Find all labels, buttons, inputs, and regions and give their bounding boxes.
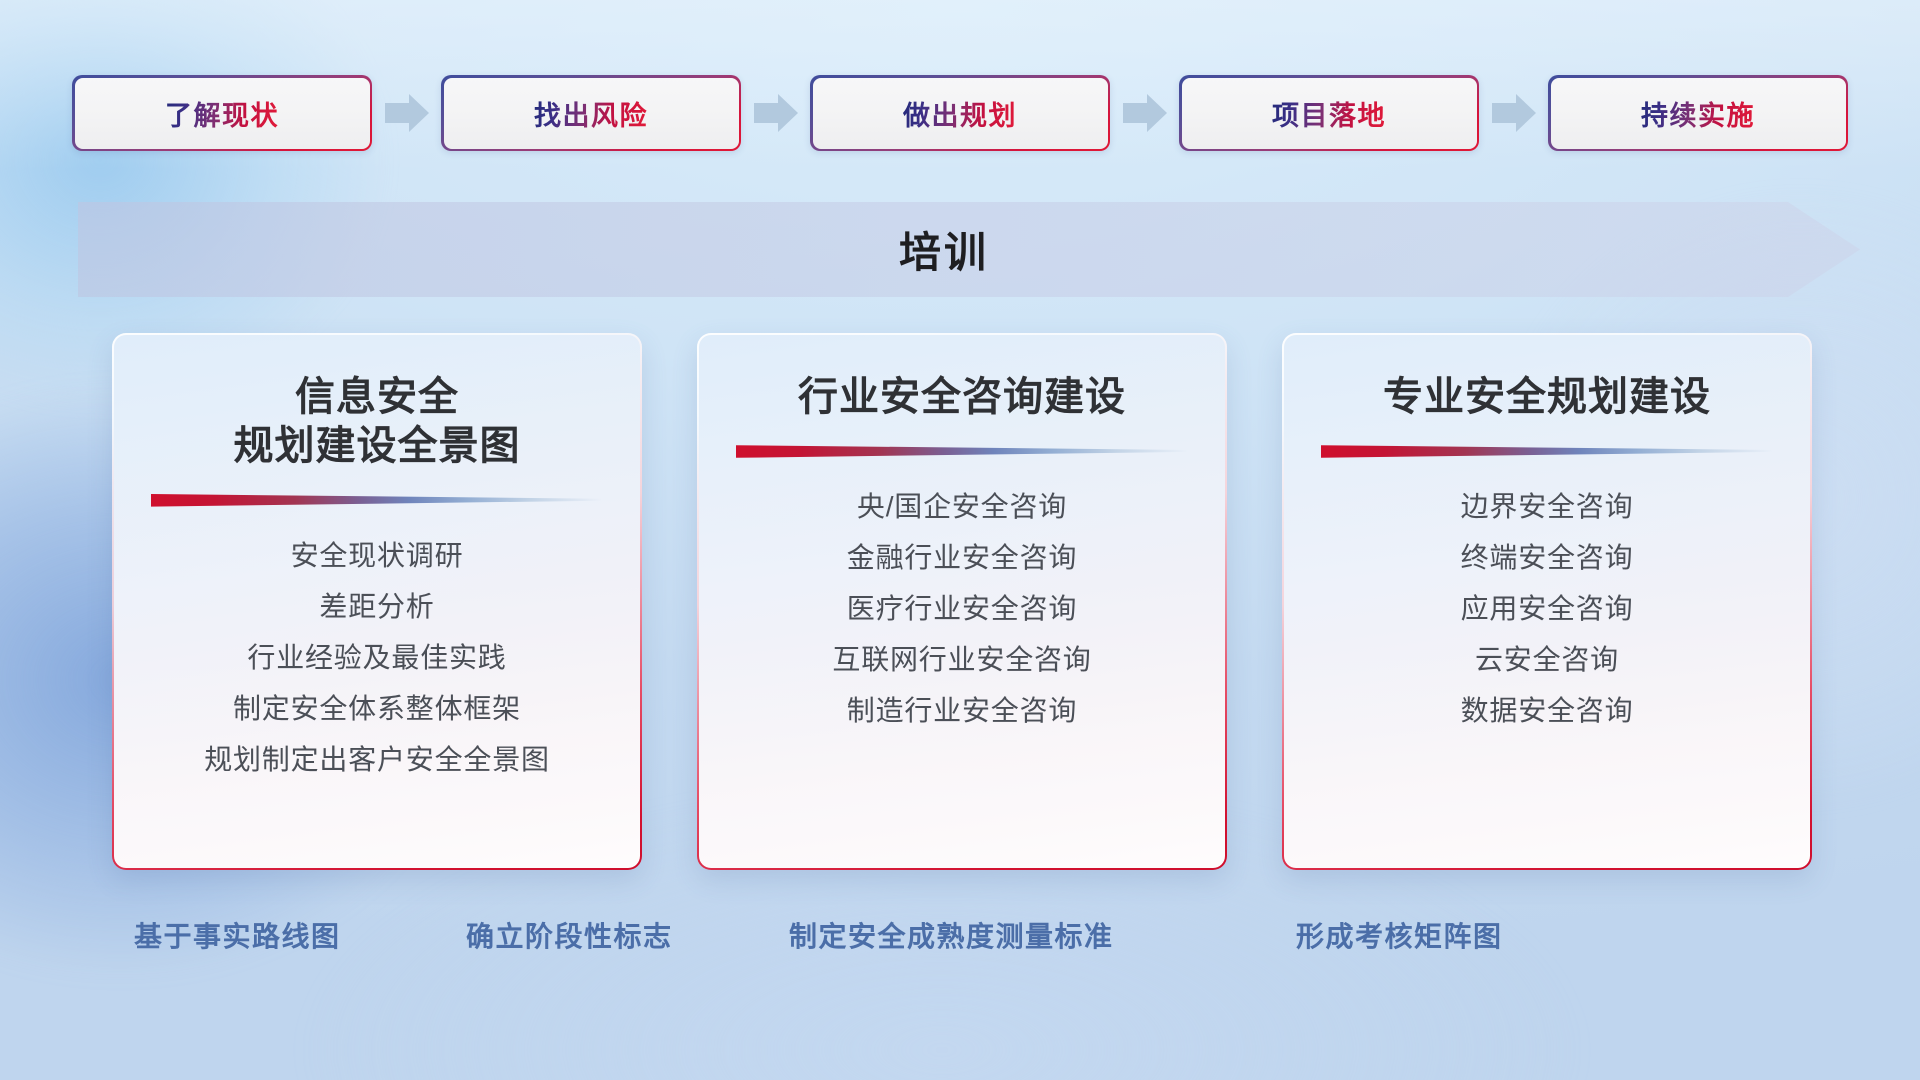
card-industry-security-consulting[interactable]: 行业安全咨询建设 央/国企安全咨询 金融行业安全咨询 医疗行业安全咨询 互联网行…	[697, 333, 1227, 870]
process-step-1-inner: 了解现状	[75, 78, 370, 149]
list-item: 安全现状调研	[291, 535, 464, 577]
card-1-list: 安全现状调研 差距分析 行业经验及最佳实践 制定安全体系整体框架 规划制定出客户…	[204, 535, 550, 781]
footer-label-row: 基于事实路线图 确立阶段性标志 制定安全成熟度测量标准 形成考核矩阵图	[0, 915, 1920, 975]
card-3-list: 边界安全咨询 终端安全咨询 应用安全咨询 云安全咨询 数据安全咨询	[1461, 486, 1634, 732]
card-2-title-line-1: 行业安全咨询建设	[798, 373, 1126, 422]
list-item: 行业经验及最佳实践	[247, 637, 506, 679]
process-step-5[interactable]: 持续实施	[1548, 75, 1848, 151]
list-item: 终端安全咨询	[1461, 537, 1634, 579]
process-step-5-inner: 持续实施	[1551, 78, 1846, 149]
card-2-inner: 行业安全咨询建设 央/国企安全咨询 金融行业安全咨询 医疗行业安全咨询 互联网行…	[699, 335, 1225, 868]
card-3-inner: 专业安全规划建设 边界安全咨询 终端安全咨询 应用安全咨询 云安全咨询 数据安全…	[1284, 335, 1810, 868]
process-step-2-label: 找出风险	[534, 94, 648, 133]
card-2-divider	[736, 444, 1188, 458]
card-1-inner: 信息安全 规划建设全景图 安全现状调研 差距分析 行业经验及最佳实践 制定安全体…	[114, 335, 640, 868]
list-item: 数据安全咨询	[1461, 690, 1634, 732]
list-item: 云安全咨询	[1475, 639, 1619, 681]
process-step-1-label: 了解现状	[165, 94, 279, 133]
list-item: 规划制定出客户安全全景图	[204, 739, 550, 781]
right-arrow-icon	[754, 94, 798, 132]
card-2-list: 央/国企安全咨询 金融行业安全咨询 医疗行业安全咨询 互联网行业安全咨询 制造行…	[832, 486, 1091, 732]
process-step-2-inner: 找出风险	[444, 78, 739, 149]
card-1-divider	[151, 493, 603, 507]
slide-canvas: 了解现状 找出风险 做出规划 项目落地 持续实施	[0, 0, 1920, 1080]
process-step-2[interactable]: 找出风险	[441, 75, 741, 151]
list-item: 央/国企安全咨询	[857, 486, 1067, 528]
list-item: 应用安全咨询	[1461, 588, 1634, 630]
card-professional-security-planning[interactable]: 专业安全规划建设 边界安全咨询 终端安全咨询 应用安全咨询 云安全咨询 数据安全…	[1282, 333, 1812, 870]
list-item: 医疗行业安全咨询	[847, 588, 1077, 630]
process-step-3[interactable]: 做出规划	[810, 75, 1110, 151]
process-step-5-label: 持续实施	[1641, 94, 1755, 133]
process-step-1[interactable]: 了解现状	[72, 75, 372, 151]
process-step-4-inner: 项目落地	[1182, 78, 1477, 149]
right-arrow-icon	[1123, 94, 1167, 132]
right-arrow-icon	[385, 94, 429, 132]
card-1-title-line-1: 信息安全	[234, 373, 521, 422]
card-3-divider	[1321, 444, 1773, 458]
process-step-row: 了解现状 找出风险 做出规划 项目落地 持续实施	[72, 75, 1848, 151]
list-item: 边界安全咨询	[1461, 486, 1634, 528]
process-step-4-label: 项目落地	[1272, 94, 1386, 133]
list-item: 制定安全体系整体框架	[233, 688, 521, 730]
footer-label-2: 确立阶段性标志	[466, 915, 673, 955]
footer-label-4: 形成考核矩阵图	[1296, 915, 1503, 955]
list-item: 差距分析	[319, 586, 434, 628]
right-arrow-icon	[1492, 94, 1536, 132]
process-step-3-label: 做出规划	[903, 94, 1017, 133]
training-banner-label: 培训	[899, 219, 989, 280]
card-2-title: 行业安全咨询建设	[798, 373, 1126, 422]
footer-label-3: 制定安全成熟度测量标准	[789, 915, 1114, 955]
card-3-title: 专业安全规划建设	[1383, 373, 1711, 422]
card-info-security-blueprint[interactable]: 信息安全 规划建设全景图 安全现状调研 差距分析 行业经验及最佳实践 制定安全体…	[112, 333, 642, 870]
process-step-4[interactable]: 项目落地	[1179, 75, 1479, 151]
card-3-title-line-1: 专业安全规划建设	[1383, 373, 1711, 422]
process-step-3-inner: 做出规划	[813, 78, 1108, 149]
footer-label-1: 基于事实路线图	[134, 915, 341, 955]
list-item: 制造行业安全咨询	[847, 690, 1077, 732]
list-item: 互联网行业安全咨询	[832, 639, 1091, 681]
card-1-title: 信息安全 规划建设全景图	[234, 373, 521, 471]
training-banner: 培训	[78, 202, 1860, 297]
card-1-title-line-2: 规划建设全景图	[234, 422, 521, 471]
list-item: 金融行业安全咨询	[847, 537, 1077, 579]
card-row: 信息安全 规划建设全景图 安全现状调研 差距分析 行业经验及最佳实践 制定安全体…	[112, 333, 1812, 870]
